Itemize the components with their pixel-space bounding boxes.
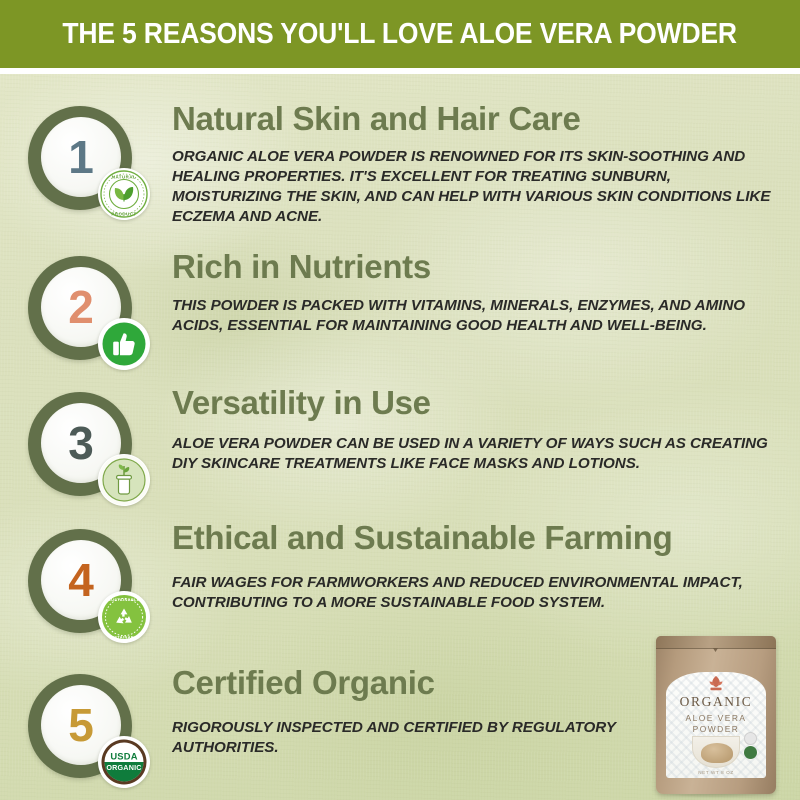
svg-text:USDA: USDA <box>110 751 137 762</box>
reason-body-1: ORGANIC ALOE VERA POWDER IS RENOWNED FOR… <box>172 147 772 226</box>
reason-body-5: RIGOROUSLY INSPECTED AND CERTIFIED BY RE… <box>172 718 652 758</box>
text-column-4: Ethical and Sustainable Farming FAIR WAG… <box>172 521 786 613</box>
reason-number-5: 5 <box>68 702 94 748</box>
pouch-label: ORGANIC ALOE VERA POWDER NET WT 8 OZ <box>666 672 766 778</box>
svg-text:SUSTAINABLE: SUSTAINABLE <box>108 597 140 602</box>
header-band: THE 5 REASONS YOU'LL LOVE ALOE VERA POWD… <box>0 0 800 68</box>
pouch-top-seal <box>656 636 776 649</box>
svg-text:NATURAL: NATURAL <box>112 175 136 180</box>
product-pouch-image: ORGANIC ALOE VERA POWDER NET WT 8 OZ <box>648 636 784 800</box>
badge-group-3: 3 <box>26 392 166 512</box>
badge-group-4: 4 SUSTAINABLE SUSTAINABLE <box>26 529 166 649</box>
svg-text:SUSTAINABLE: SUSTAINABLE <box>108 634 140 639</box>
badge-group-2: 2 <box>26 256 166 376</box>
reason-body-4: FAIR WAGES FOR FARMWORKERS AND REDUCED E… <box>172 573 772 613</box>
reason-heading-3: Versatility in Use <box>172 386 786 420</box>
reason-number-4: 4 <box>68 557 94 603</box>
reason-number-1: 1 <box>68 134 94 180</box>
thumbs-up-seal-icon <box>98 318 150 370</box>
reason-heading-2: Rich in Nutrients <box>172 250 786 284</box>
pouch-label-line2: POWDER <box>693 724 740 734</box>
pouch-body: ORGANIC ALOE VERA POWDER NET WT 8 OZ <box>656 636 776 794</box>
reason-heading-1: Natural Skin and Hair Care <box>172 102 786 136</box>
badge-group-5: 5 USDA ORGANIC <box>26 674 166 794</box>
usda-organic-seal-icon: USDA ORGANIC <box>98 736 150 788</box>
pouch-label-seal-secondary <box>744 732 757 745</box>
page-title: THE 5 REASONS YOU'LL LOVE ALOE VERA POWD… <box>63 18 737 51</box>
reason-number-2: 2 <box>68 284 94 330</box>
svg-text:PRODUCT: PRODUCT <box>111 212 136 217</box>
badge-group-1: 1 NATURAL PRODUCT <box>26 106 166 226</box>
natural-product-leaf-seal-icon: NATURAL PRODUCT <box>98 168 150 220</box>
text-column-2: Rich in Nutrients THIS POWDER IS PACKED … <box>172 250 786 336</box>
pouch-label-powder <box>701 743 733 763</box>
pouch-brand-logo-icon <box>706 675 726 691</box>
reason-body-3: ALOE VERA POWDER CAN BE USED IN A VARIET… <box>172 434 772 474</box>
pouch-tear-notch <box>713 648 718 652</box>
reason-heading-4: Ethical and Sustainable Farming <box>172 521 786 555</box>
pouch-label-seal-organic <box>744 746 757 759</box>
text-column-3: Versatility in Use ALOE VERA POWDER CAN … <box>172 386 786 474</box>
reason-section-1: 1 NATURAL PRODUCT <box>0 106 800 246</box>
infographic-poster: THE 5 REASONS YOU'LL LOVE ALOE VERA POWD… <box>0 0 800 800</box>
reason-body-2: THIS POWDER IS PACKED WITH VITAMINS, MIN… <box>172 296 772 336</box>
text-column-1: Natural Skin and Hair Care ORGANIC ALOE … <box>172 102 786 226</box>
poster-body: 1 NATURAL PRODUCT <box>0 74 800 800</box>
reason-section-2: 2 Rich in Nutrients THIS POWDER IS PACKE… <box>0 256 800 381</box>
svg-text:ORGANIC: ORGANIC <box>106 763 141 772</box>
mortar-pestle-herb-seal-icon <box>98 454 150 506</box>
pouch-label-bowl-illustration <box>692 736 740 768</box>
pouch-label-brand: ORGANIC <box>666 694 766 710</box>
reason-section-3: 3 Versatility <box>0 392 800 517</box>
pouch-label-footer: NET WT 8 OZ <box>666 770 766 775</box>
pouch-label-line1: ALOE VERA <box>686 713 747 723</box>
reason-number-3: 3 <box>68 420 94 466</box>
sustainable-recycle-seal-icon: SUSTAINABLE SUSTAINABLE <box>98 591 150 643</box>
